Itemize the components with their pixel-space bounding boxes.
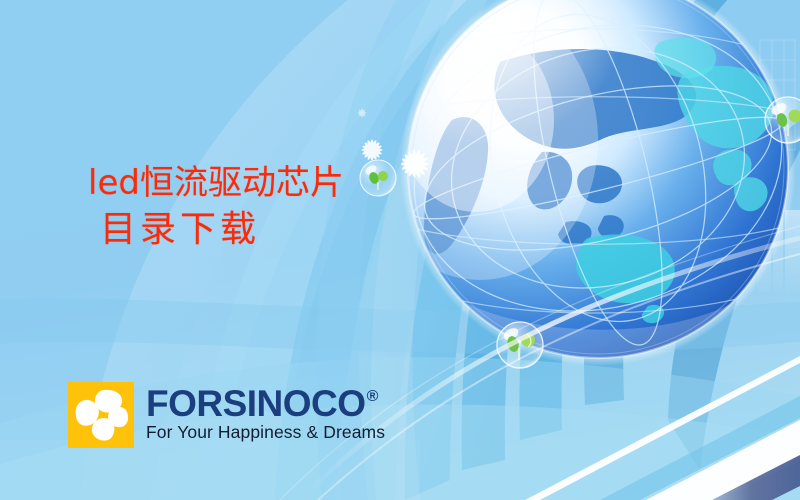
logo-tagline: For Your Happiness & Dreams	[146, 422, 385, 443]
promo-banner: led恒流驱动芯片 目录下载 FORSINOCO ® For Your Happ…	[0, 0, 800, 500]
diagonal-bands	[525, 356, 800, 500]
earth-globe-icon	[362, 0, 800, 366]
logo-wordmark-text: FORSINOCO	[146, 387, 366, 421]
bubble-bottom	[497, 322, 543, 368]
bubble-right	[765, 97, 800, 143]
green-sprout-icon	[368, 171, 388, 190]
logo-text-block: FORSINOCO ® For Your Happiness & Dreams	[146, 387, 385, 443]
headline: led恒流驱动芯片 目录下载	[88, 166, 344, 248]
forsinoco-pinwheel-flower-icon	[68, 382, 134, 448]
company-logo[interactable]: FORSINOCO ® For Your Happiness & Dreams	[68, 382, 385, 448]
green-sprout-icon	[506, 333, 535, 360]
logo-wordmark: FORSINOCO ®	[146, 387, 385, 421]
sparkle-flower-2	[401, 149, 429, 179]
headline-line-1: led恒流驱动芯片	[88, 166, 344, 200]
headline-line-2: 目录下载	[100, 212, 344, 248]
bubble-left	[360, 160, 396, 196]
sparkle-flower-1	[361, 139, 382, 160]
registered-trademark-icon: ®	[367, 389, 378, 405]
city-skyline-icon	[676, 40, 800, 292]
sparkle-flower-small	[358, 109, 367, 118]
green-sprout-icon	[775, 110, 800, 137]
